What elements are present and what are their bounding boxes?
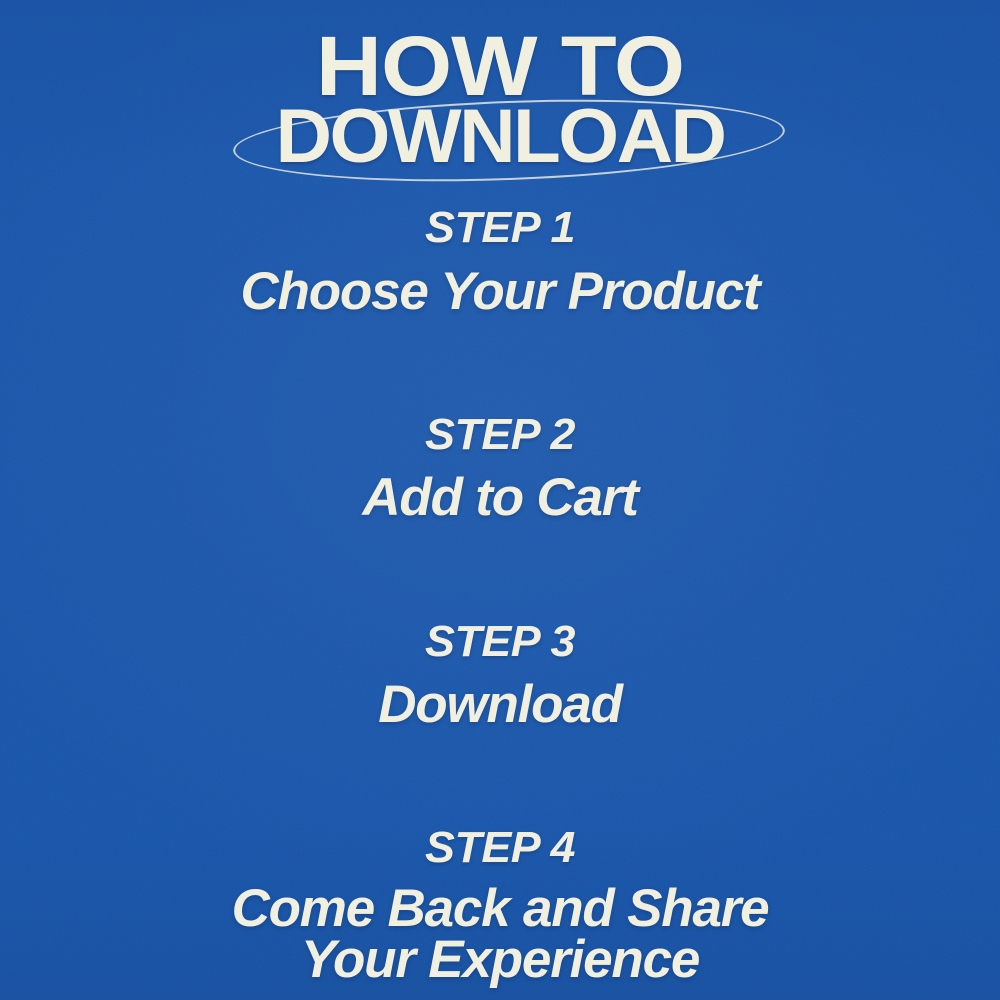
step-4-text: Come Back and Share Your Experience xyxy=(0,884,1000,986)
steps-list: STEP 1 Choose Your Product STEP 2 Add to… xyxy=(0,205,1000,986)
step-item-2: STEP 2 Add to Cart xyxy=(0,412,1000,527)
step-item-1: STEP 1 Choose Your Product xyxy=(0,205,1000,320)
step-2-text: Add to Cart xyxy=(0,470,1000,526)
step-item-3: STEP 3 Download xyxy=(0,619,1000,734)
step-1-label: STEP 1 xyxy=(0,205,1000,252)
step-item-4: STEP 4 Come Back and Share Your Experien… xyxy=(0,825,1000,985)
poster-title: HOW TO DOWNLOAD xyxy=(0,30,1000,170)
step-3-label: STEP 3 xyxy=(0,619,1000,666)
step-2-label: STEP 2 xyxy=(0,412,1000,459)
title-line-how-to: HOW TO xyxy=(0,30,1000,102)
title-line-download: DOWNLOAD xyxy=(0,104,1000,169)
step-4-label: STEP 4 xyxy=(0,825,1000,872)
step-3-text: Download xyxy=(0,677,1000,733)
poster-canvas: HOW TO DOWNLOAD STEP 1 Choose Your Produ… xyxy=(0,0,1000,1000)
step-1-text: Choose Your Product xyxy=(0,264,1000,320)
